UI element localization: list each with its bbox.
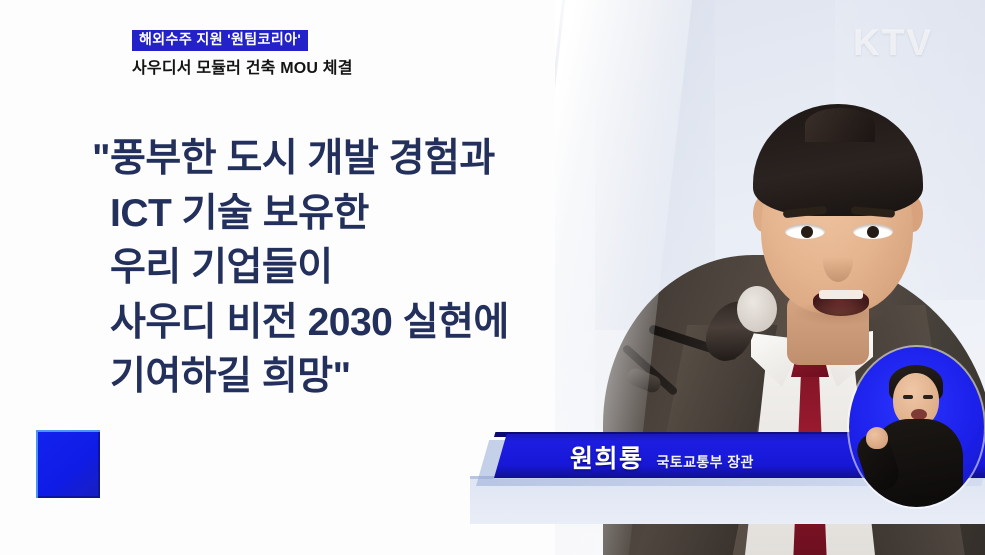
nose <box>823 240 853 282</box>
lower-third-text: 원희룡 국토교통부 장관 <box>570 439 754 475</box>
hair-part <box>805 108 875 142</box>
headline-block: 해외수주 지원 '원팀코리아' 사우디서 모듈러 건축 MOU 체결 <box>132 30 353 78</box>
interpreter-eye-right <box>923 395 933 399</box>
interpreter-hand <box>866 427 888 449</box>
sign-language-interpreter-icon <box>849 347 984 507</box>
quote-line-2: ICT 기술 보유한 <box>92 187 509 242</box>
pull-quote: "풍부한 도시 개발 경험과 ICT 기술 보유한 우리 기업들이 사우디 비전… <box>92 132 509 405</box>
headline-kicker: 해외수주 지원 '원팀코리아' <box>132 30 308 51</box>
interpreter-eye-left <box>903 395 913 399</box>
speaker-name: 원희룡 <box>570 439 644 475</box>
quote-line-3: 우리 기업들이 <box>92 241 509 296</box>
blue-square-decoration <box>36 430 100 498</box>
quote-line-5: 기여하길 희망" <box>92 350 509 405</box>
headline-main: 사우디서 모듈러 건축 MOU 체결 <box>132 54 353 78</box>
pupil-right <box>867 226 879 238</box>
quote-line-1: "풍부한 도시 개발 경험과 <box>92 132 509 187</box>
quote-line-4: 사우디 비전 2030 실현에 <box>92 296 509 351</box>
channel-watermark: KTV <box>853 22 933 64</box>
pupil-left <box>801 226 813 238</box>
speaker-role: 국토교통부 장관 <box>657 452 754 472</box>
broadcast-screen: KTV 해외수주 지원 '원팀코리아' 사우디서 모듈러 건축 MOU 체결 "… <box>0 0 985 555</box>
microphone-windscreen <box>737 286 777 332</box>
teeth <box>819 290 863 299</box>
chin-shadow <box>791 300 887 326</box>
